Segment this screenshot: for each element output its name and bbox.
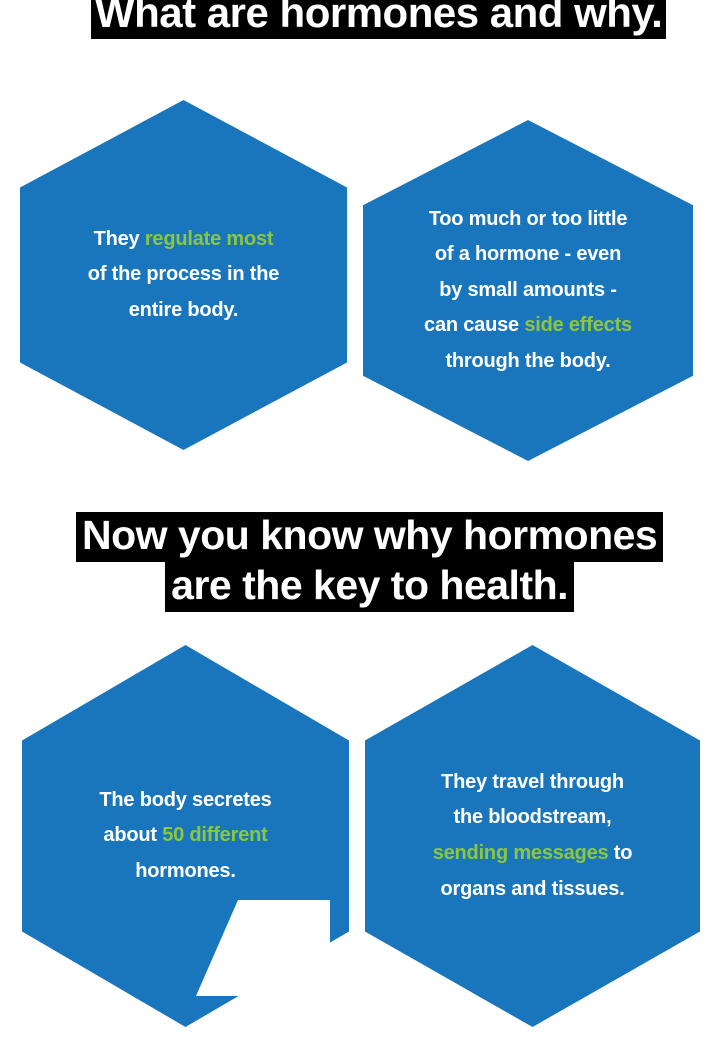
hexagon-card-1: They regulate most of the process in the… (20, 100, 347, 450)
card-3-line-3: hormones. (135, 860, 235, 882)
page-title-middle: Now you know why hormones are the key to… (76, 512, 663, 612)
card-2-line-4-part-1: can cause (424, 314, 524, 336)
page-title-top-text: What are hormones and why. (91, 0, 666, 39)
page-title-middle-line-1-wrap: Now you know why hormones (76, 512, 663, 562)
card-4-line-3-part-2: to (608, 842, 632, 864)
card-2-line-5: through the body. (445, 350, 610, 372)
hexagon-card-3: The body secretes about 50 different hor… (22, 645, 349, 1027)
card-4-line-2: the bloodstream, (454, 806, 612, 828)
hexagon-card-2: Too much or too little of a hormone - ev… (363, 120, 693, 461)
card-1-line-1-part-1: They (94, 228, 145, 250)
card-1-line-3: entire body. (129, 299, 238, 321)
card-2-line-3: by small amounts - (439, 279, 617, 301)
hexagon-card-1-text: They regulate most of the process in the… (74, 222, 293, 329)
page-title-middle-line-2-wrap: are the key to health. (76, 562, 663, 612)
card-3-line-2-part-1: about (103, 824, 162, 846)
card-3-line-1: The body secretes (99, 789, 271, 811)
card-4-line-1: They travel through (441, 771, 624, 793)
page-title-top: What are hormones and why. (91, 0, 666, 39)
card-1-line-1-highlight: regulate most (145, 228, 274, 250)
card-2-line-4-highlight: side effects (524, 314, 632, 336)
card-4-line-3-highlight: sending messages (433, 842, 609, 864)
hexagon-card-4-text: They travel through the bloodstream, sen… (419, 765, 647, 907)
hexagon-card-3-text: The body secretes about 50 different hor… (85, 783, 285, 890)
hexagon-card-4: They travel through the bloodstream, sen… (365, 645, 700, 1027)
hexagon-card-2-text: Too much or too little of a hormone - ev… (410, 202, 646, 380)
card-1-line-2: of the process in the (88, 263, 279, 285)
card-4-line-4: organs and tissues. (440, 878, 624, 900)
page-title-middle-line-2: are the key to health. (165, 562, 574, 612)
card-3-line-2-highlight: 50 different (162, 824, 267, 846)
page-title-middle-line-1: Now you know why hormones (76, 512, 663, 562)
card-2-line-2: of a hormone - even (435, 243, 621, 265)
card-2-line-1: Too much or too little (429, 208, 628, 230)
